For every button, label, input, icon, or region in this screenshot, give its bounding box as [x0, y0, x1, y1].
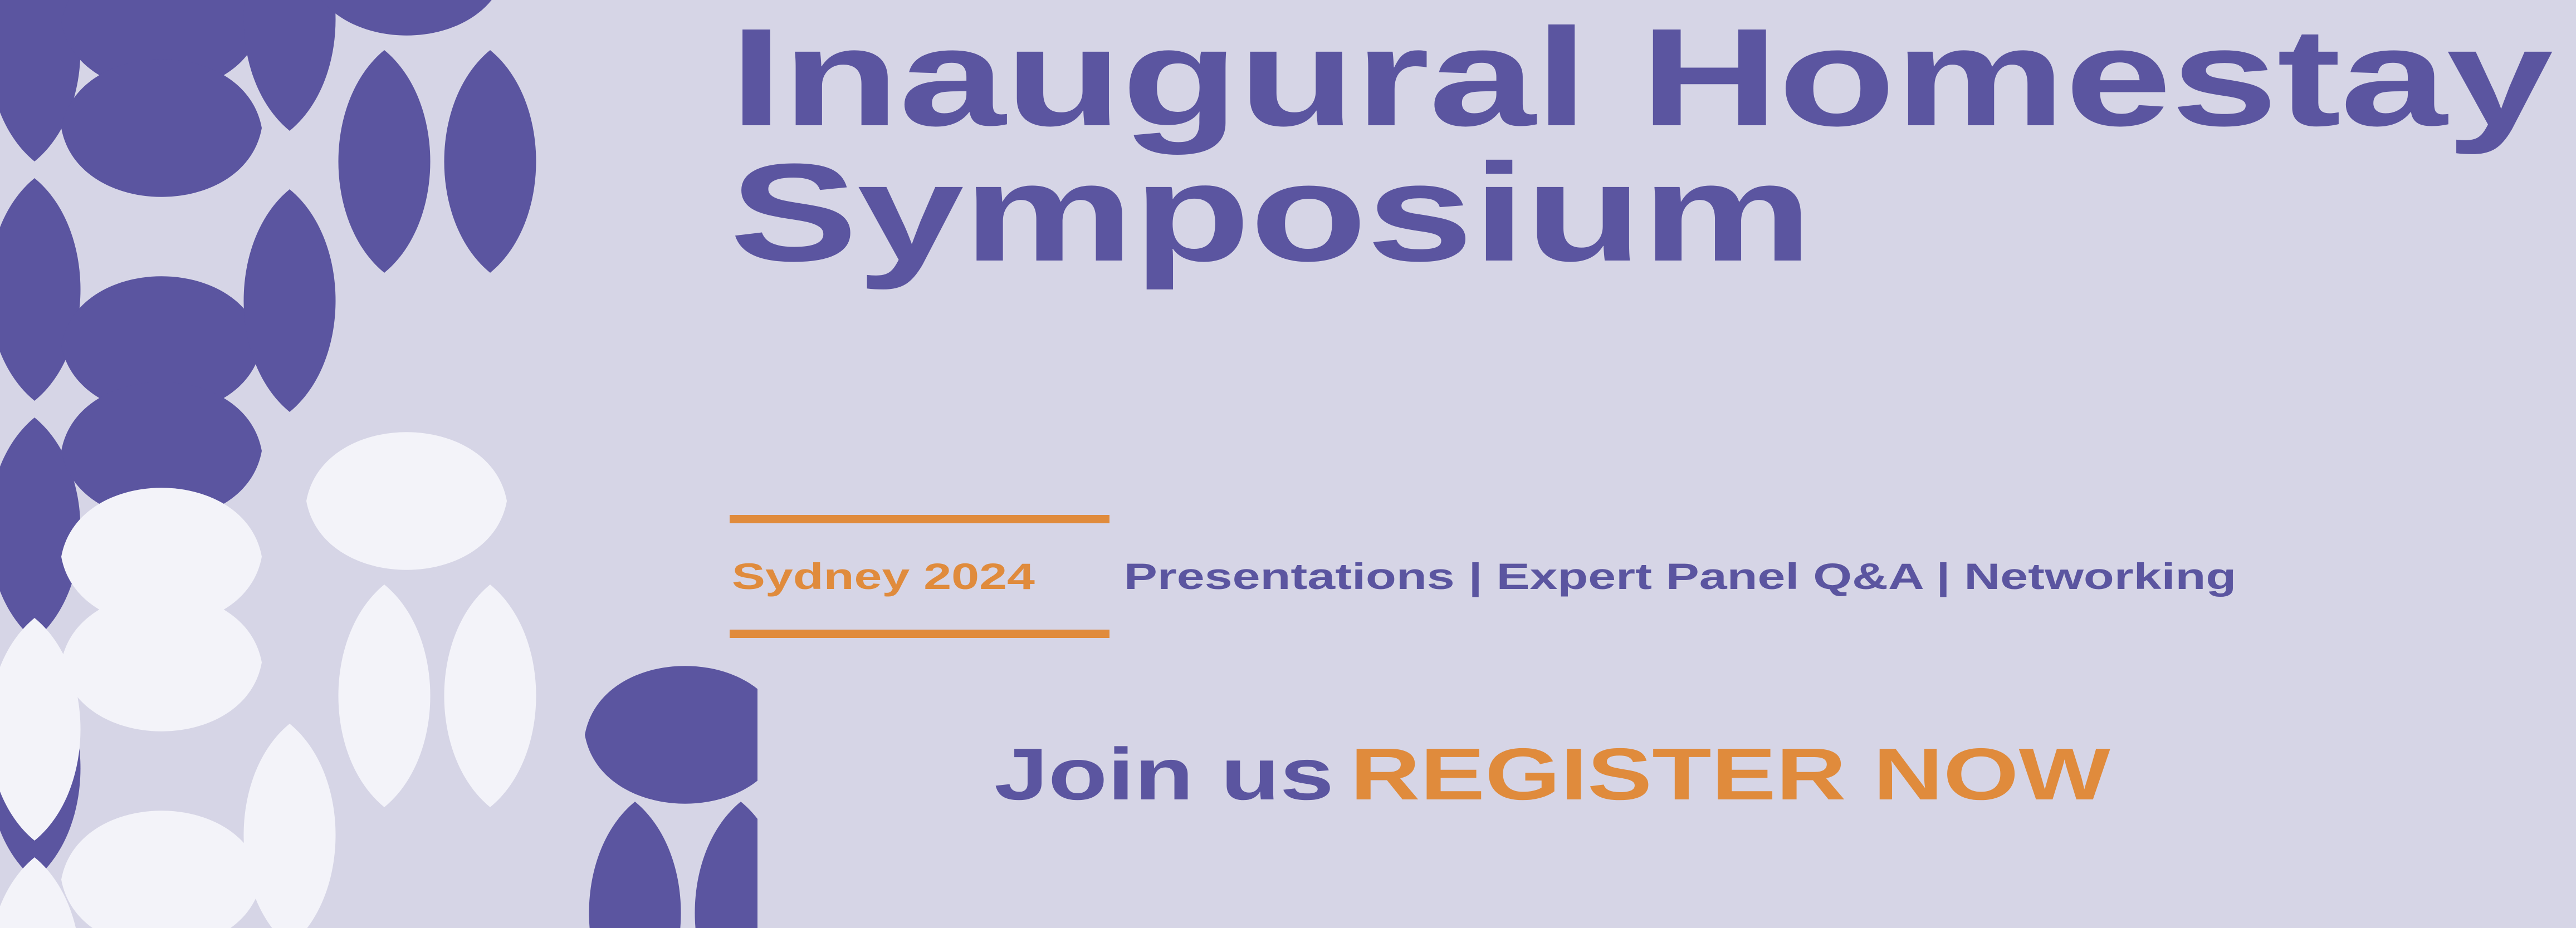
cta-row[interactable]: Join usREGISTER NOW [994, 738, 1840, 811]
location-label: Sydney 2024 [732, 558, 1035, 595]
badge-rule-bottom [730, 630, 1109, 638]
cta-lead-label: Join us [994, 733, 1334, 815]
title-line-1: Inaugural Homestay [730, 10, 2576, 145]
banner-content: Inaugural Homestay Symposium Sydney 2024… [730, 0, 2576, 928]
badge-rule-top [730, 515, 1109, 523]
leaf-group-offwhite [0, 432, 536, 928]
subtitle-row: Sydney 2024 Presentations | Expert Panel… [730, 515, 1942, 637]
cta-inner: Join usREGISTER NOW [994, 738, 2110, 811]
topics-label: Presentations | Expert Panel Q&A | Netwo… [1124, 558, 2236, 595]
register-now-button[interactable]: REGISTER NOW [1350, 733, 2110, 815]
location-badge: Sydney 2024 [730, 515, 1109, 638]
page-title: Inaugural Homestay Symposium [730, 10, 2576, 280]
event-banner: Inaugural Homestay Symposium Sydney 2024… [0, 0, 2576, 928]
title-line-2: Symposium [730, 145, 2576, 281]
decorative-leaf-pattern [0, 0, 757, 928]
leaf-group-purple [0, 0, 757, 928]
